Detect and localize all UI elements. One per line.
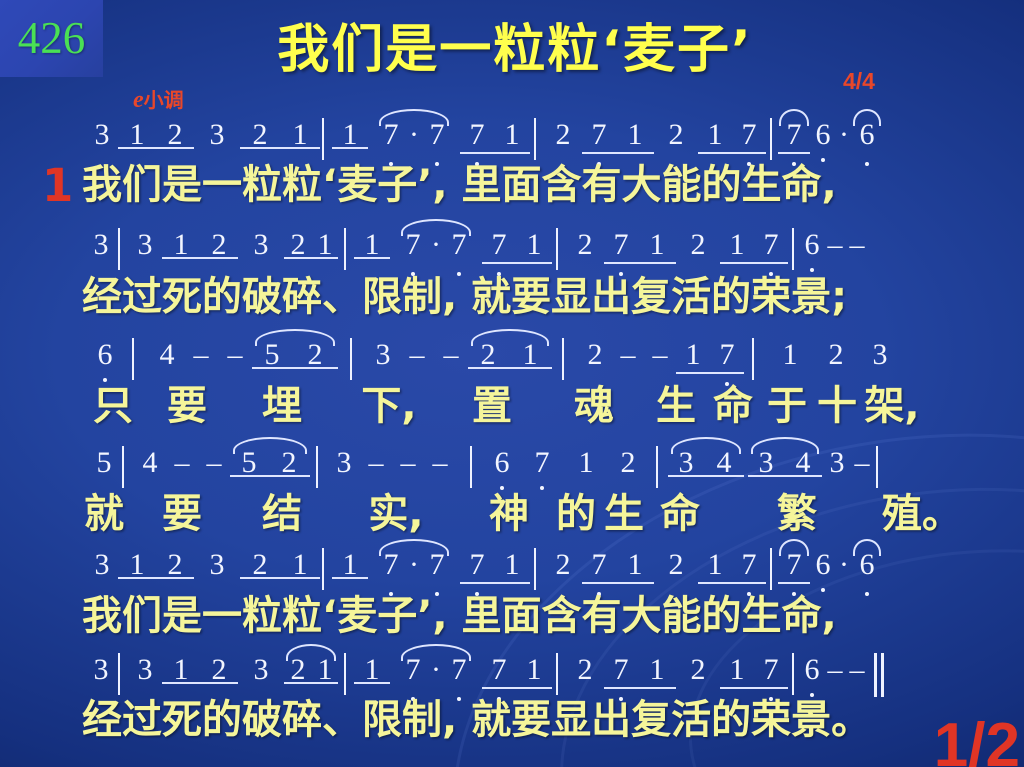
beamed-group: 1 — [332, 118, 368, 152]
note: 7 — [604, 228, 638, 262]
slur-arc — [233, 437, 307, 454]
note: 3 — [328, 446, 360, 480]
sustain-dash: – — [644, 338, 676, 372]
barline — [132, 338, 134, 380]
beam — [720, 262, 788, 264]
lyric-char: 十 — [812, 386, 862, 426]
beamed-group: 17 — [720, 228, 788, 262]
sustain-dash: – — [846, 228, 868, 262]
beamed-group: 52 — [230, 446, 310, 480]
lyric-char: 于 — [762, 386, 812, 426]
lyric-text: 我们是一粒粒‘麦子’, 里面含有大能的生命, — [82, 596, 837, 636]
key-mode: 小调 — [144, 88, 184, 112]
lyric-text: 我们是一粒粒‘麦子’, 里面含有大能的生命, — [82, 165, 837, 205]
beam — [778, 152, 810, 154]
beamed-group: 71 — [604, 228, 676, 262]
sustain-dash: – — [198, 446, 230, 480]
lyric-char: 就 — [82, 494, 126, 534]
barline — [470, 446, 472, 488]
note: 6 — [800, 228, 824, 262]
note: 6 — [810, 548, 836, 582]
beamed-group: 52 — [252, 338, 338, 372]
note: 3 — [822, 446, 852, 480]
beamed-group: 21 — [284, 653, 338, 687]
beamed-group: 21 — [240, 548, 320, 582]
note: 2 — [578, 338, 612, 372]
sustain-dash: – — [184, 338, 218, 372]
slur-arc — [671, 437, 741, 454]
beam — [668, 475, 744, 477]
staff-line-2: 331232117·7712712176–– — [0, 228, 1024, 280]
note: 7 — [482, 228, 516, 262]
key-signature: e小调 — [133, 84, 184, 114]
note: 7 — [732, 118, 766, 152]
sustain-dash: – — [612, 338, 644, 372]
beam — [240, 147, 320, 149]
page-title: 我们是一粒粒‘麦子’ — [205, 24, 825, 76]
beamed-group: 34 — [748, 446, 822, 480]
lyric-char: 结 — [238, 494, 326, 534]
note: 1 — [638, 228, 676, 262]
note: 7 — [754, 228, 788, 262]
beamed-group: 6 — [852, 548, 882, 582]
barline — [752, 338, 754, 380]
beamed-group: 71 — [482, 228, 552, 262]
barline — [350, 338, 352, 380]
barline — [322, 548, 324, 590]
barline — [556, 653, 558, 695]
note: 7 — [582, 548, 616, 582]
beamed-group: 21 — [468, 338, 552, 372]
beam — [284, 682, 338, 684]
note: 3 — [238, 228, 284, 262]
note: 1 — [720, 653, 754, 687]
note: 3 — [366, 338, 400, 372]
beamed-group: 7·7 — [376, 118, 452, 152]
beamed-group: 7·7 — [376, 548, 452, 582]
slur-arc — [779, 109, 808, 126]
sustain-dash: – — [166, 446, 198, 480]
lyric-char: 繁 — [712, 494, 882, 534]
beamed-group: 17 — [676, 338, 744, 372]
beam — [162, 257, 238, 259]
note: 1 — [564, 446, 608, 480]
note: 4 — [150, 338, 184, 372]
slur-arc — [379, 109, 449, 126]
beam — [468, 367, 552, 369]
beam — [460, 152, 530, 154]
beamed-group: 71 — [604, 653, 676, 687]
note: 7 — [582, 118, 616, 152]
lyric-char: 命 — [704, 386, 762, 426]
barline — [656, 446, 658, 488]
barline — [770, 548, 772, 590]
beam — [604, 262, 676, 264]
beamed-group: 1 — [354, 653, 390, 687]
sustain-dash: – — [218, 338, 252, 372]
beam — [284, 257, 338, 259]
beam — [460, 582, 530, 584]
note: 3 — [86, 548, 118, 582]
barline — [556, 228, 558, 270]
beam — [118, 577, 194, 579]
barline — [876, 446, 878, 488]
beam — [698, 582, 766, 584]
beamed-group: 7·7 — [398, 653, 474, 687]
barline — [792, 653, 794, 695]
lyric-char: 架, — [862, 386, 922, 426]
note: 2 — [544, 548, 582, 582]
note: 1 — [698, 548, 732, 582]
beam — [332, 577, 368, 579]
lyric-char: 置 — [444, 386, 540, 426]
dotted-rhythm-dot: · — [836, 118, 852, 152]
barline — [118, 228, 120, 270]
beam — [582, 582, 654, 584]
beamed-group: 12 — [162, 653, 238, 687]
note: 2 — [676, 653, 720, 687]
note: 1 — [516, 228, 552, 262]
note: 2 — [544, 118, 582, 152]
beamed-group: 12 — [118, 548, 194, 582]
slide-canvas: 426 我们是一粒粒‘麦子’ e小调 4/4 1 31232117·771271… — [0, 0, 1024, 767]
lyric-line-4: 就要结实,神的生命繁殖。 — [82, 494, 1024, 534]
beam — [252, 367, 338, 369]
barline — [118, 653, 120, 695]
barline — [322, 118, 324, 160]
lyric-char: 的 — [552, 494, 600, 534]
note: 7 — [754, 653, 788, 687]
beamed-group: 17 — [698, 118, 766, 152]
lyric-line-6: 经过死的破碎、限制, 就要显出复活的荣景。 — [82, 700, 1024, 740]
note: 2 — [566, 228, 604, 262]
sustain-dash: – — [434, 338, 468, 372]
note: 3 — [86, 118, 118, 152]
sustain-dash: – — [824, 653, 846, 687]
note: 7 — [732, 548, 766, 582]
note: 3 — [194, 548, 240, 582]
beam — [240, 577, 320, 579]
lyric-line-3: 只要埋下,置魂生命于十架, — [82, 386, 1024, 426]
lyric-char: 命 — [648, 494, 712, 534]
dotted-rhythm-dot: · — [836, 548, 852, 582]
beamed-group: 1 — [332, 548, 368, 582]
beam — [482, 262, 552, 264]
slur-arc — [401, 219, 471, 236]
note: 3 — [86, 653, 116, 687]
sustain-dash: – — [846, 653, 868, 687]
slur-arc — [286, 644, 336, 661]
key-letter: e — [133, 87, 144, 113]
note: 2 — [654, 548, 698, 582]
barline — [316, 446, 318, 488]
lyric-char: 魂 — [540, 386, 648, 426]
lyric-char: 神 — [466, 494, 552, 534]
lyric-char: 要 — [144, 386, 230, 426]
lyric-text: 经过死的破碎、限制, 就要显出复活的荣景; — [82, 277, 847, 317]
beam — [582, 152, 654, 154]
note: 1 — [676, 338, 710, 372]
beam — [230, 475, 310, 477]
beamed-group: 17 — [698, 548, 766, 582]
note: 7 — [460, 118, 494, 152]
note: 6 — [90, 338, 120, 372]
sustain-dash: – — [852, 446, 872, 480]
beam — [162, 682, 238, 684]
slur-arc — [853, 539, 881, 556]
barline — [344, 653, 346, 695]
note: 3 — [128, 653, 162, 687]
note: 1 — [616, 548, 654, 582]
beamed-group: 7·7 — [398, 228, 474, 262]
lyric-char: 实, — [326, 494, 466, 534]
lyric-char: 殖。 — [882, 494, 942, 534]
note: 7 — [710, 338, 744, 372]
lyric-char: 生 — [600, 494, 648, 534]
note: 4 — [134, 446, 166, 480]
slur-arc — [751, 437, 819, 454]
beamed-group: 12 — [162, 228, 238, 262]
note: 3 — [128, 228, 162, 262]
lyric-line-5: 我们是一粒粒‘麦子’, 里面含有大能的生命, — [82, 596, 1024, 636]
beam — [482, 687, 552, 689]
note: 1 — [516, 653, 552, 687]
note: 1 — [698, 118, 732, 152]
note: 1 — [768, 338, 812, 372]
note: 1 — [616, 118, 654, 152]
note: 3 — [238, 653, 284, 687]
lyric-line-2: 经过死的破碎、限制, 就要显出复活的荣景; — [82, 277, 1024, 317]
barline — [792, 228, 794, 270]
beam — [354, 682, 390, 684]
hymn-number-badge: 426 — [0, 0, 103, 77]
note: 1 — [494, 118, 530, 152]
sustain-dash: – — [424, 446, 456, 480]
note: 7 — [482, 653, 516, 687]
beam — [118, 147, 194, 149]
lyric-char: 埋 — [230, 386, 334, 426]
barline — [534, 118, 536, 160]
hymn-number: 426 — [18, 16, 86, 61]
note: 2 — [812, 338, 860, 372]
beamed-group: 21 — [240, 118, 320, 152]
beamed-group: 7 — [778, 118, 810, 152]
barline — [770, 118, 772, 160]
beam — [698, 152, 766, 154]
beamed-group: 17 — [720, 653, 788, 687]
beamed-group: 6 — [852, 118, 882, 152]
beamed-group: 71 — [582, 548, 654, 582]
lyric-char: 要 — [126, 494, 238, 534]
beamed-group: 71 — [460, 548, 530, 582]
slur-arc — [471, 329, 548, 346]
slur-arc — [379, 539, 449, 556]
sustain-dash: – — [360, 446, 392, 480]
lyric-text: 经过死的破碎、限制, 就要显出复活的荣景。 — [82, 700, 871, 740]
note: 2 — [608, 446, 648, 480]
note: 7 — [604, 653, 638, 687]
lyric-line-1: 我们是一粒粒‘麦子’, 里面含有大能的生命, — [82, 165, 1024, 205]
note: 3 — [860, 338, 900, 372]
beam — [604, 687, 676, 689]
lyric-char: 下, — [334, 386, 444, 426]
beamed-group: 7 — [778, 548, 810, 582]
double-barline — [874, 653, 884, 705]
time-signature: 4/4 — [843, 68, 875, 95]
page-indicator: 1/2 — [934, 715, 1020, 767]
note: 6 — [810, 118, 836, 152]
slur-arc — [779, 539, 808, 556]
note: 3 — [86, 228, 116, 262]
beam — [748, 475, 822, 477]
beamed-group: 21 — [284, 228, 338, 262]
note: 7 — [520, 446, 564, 480]
note: 2 — [654, 118, 698, 152]
barline — [534, 548, 536, 590]
note: 7 — [460, 548, 494, 582]
beamed-group: 34 — [668, 446, 744, 480]
beam — [354, 257, 390, 259]
note: 3 — [194, 118, 240, 152]
note: 1 — [638, 653, 676, 687]
beamed-group: 71 — [482, 653, 552, 687]
beamed-group: 71 — [460, 118, 530, 152]
barline — [562, 338, 564, 380]
slur-arc — [255, 329, 334, 346]
barline — [344, 228, 346, 270]
beam — [720, 687, 788, 689]
beam — [676, 372, 744, 374]
beamed-group: 71 — [582, 118, 654, 152]
sustain-dash: – — [392, 446, 424, 480]
note: 1 — [720, 228, 754, 262]
note: 2 — [566, 653, 604, 687]
beamed-group: 1 — [354, 228, 390, 262]
note: 2 — [676, 228, 720, 262]
beam — [332, 147, 368, 149]
sustain-dash: – — [400, 338, 434, 372]
barline — [122, 446, 124, 488]
note: 6 — [484, 446, 520, 480]
sustain-dash: – — [824, 228, 846, 262]
beamed-group: 12 — [118, 118, 194, 152]
lyric-char: 生 — [648, 386, 704, 426]
slur-arc — [401, 644, 471, 661]
note: 6 — [800, 653, 824, 687]
beam — [778, 582, 810, 584]
lyric-char: 只 — [82, 386, 144, 426]
note: 5 — [90, 446, 118, 480]
slur-arc — [853, 109, 881, 126]
note: 1 — [494, 548, 530, 582]
